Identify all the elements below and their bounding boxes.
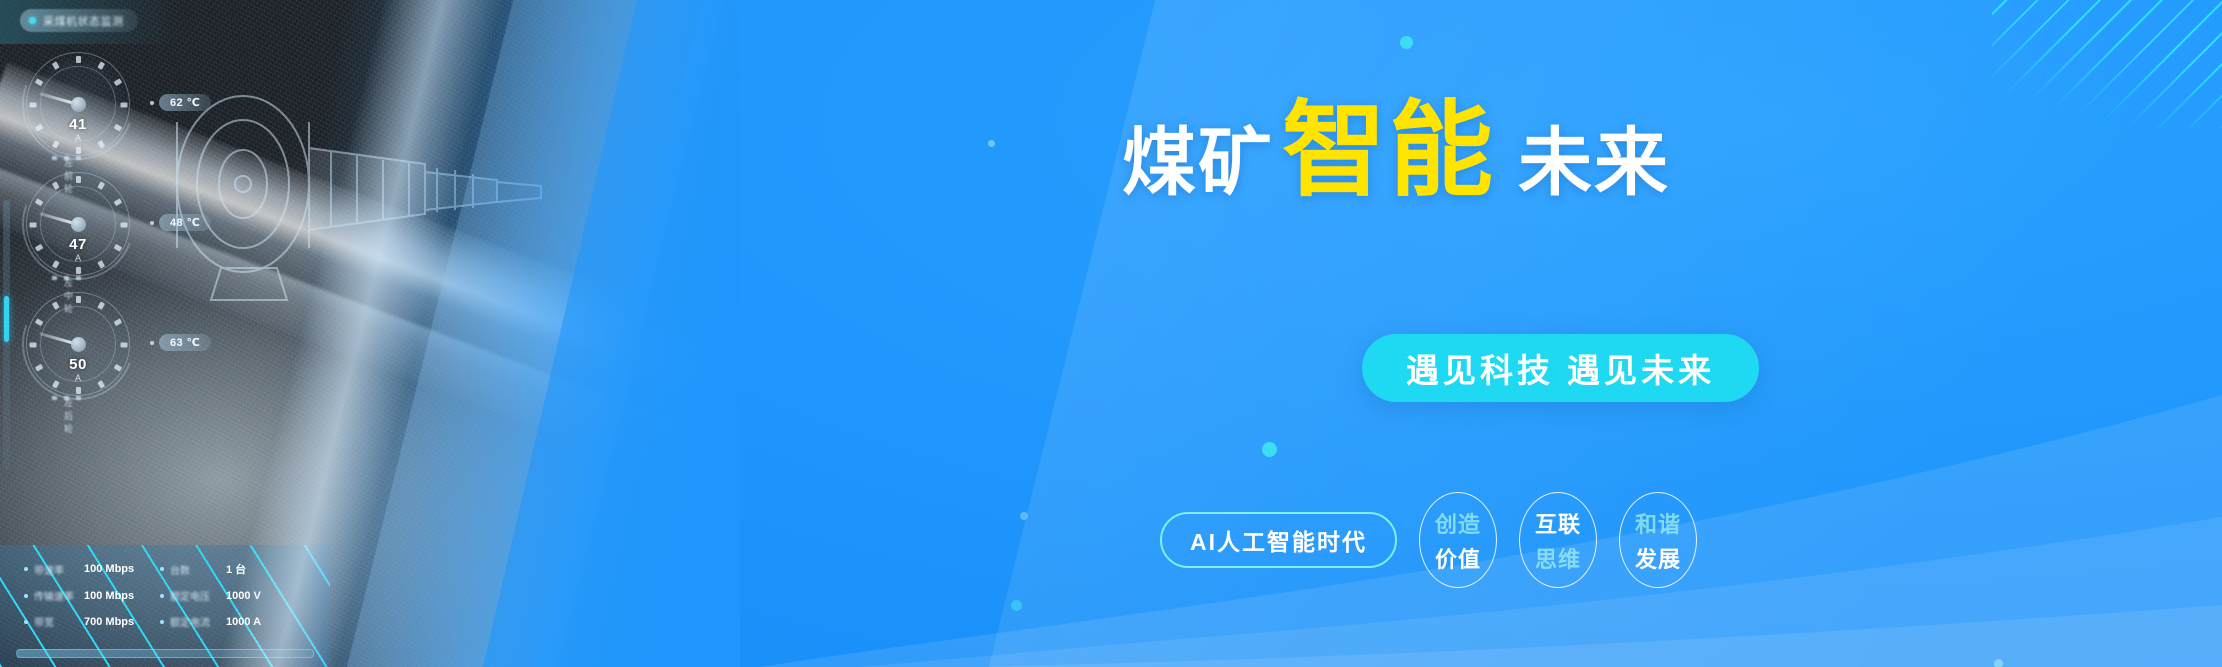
- badge-circle-line-2: 思维: [1535, 542, 1581, 574]
- banner-subtitle-pill: 遇见科技 遇见未来: [1362, 334, 1759, 402]
- title-part-2: 未来: [1518, 126, 1670, 200]
- marketing-banner: 采煤机状态监测: [0, 0, 2222, 667]
- badge-circle-line-1: 创造: [1435, 507, 1481, 539]
- badge-circle-line-1: 和谐: [1635, 507, 1681, 539]
- title-accent: 智能: [1282, 104, 1496, 200]
- badge-group: AI人工智能时代 创造 价值 互联 思维 和谐 发展: [1160, 492, 1697, 588]
- title-part-1: 煤矿: [1122, 126, 1274, 200]
- badge-pill-ai-era[interactable]: AI人工智能时代: [1160, 512, 1397, 568]
- badge-circle-connected-thinking[interactable]: 互联 思维: [1519, 492, 1597, 588]
- banner-content: 煤矿 智能 未来 遇见科技 遇见未来 AI人工智能时代 创造 价值 互联 思维 …: [0, 0, 2222, 667]
- banner-subtitle-text: 遇见科技 遇见未来: [1406, 344, 1715, 392]
- badge-circle-harmonious-development[interactable]: 和谐 发展: [1619, 492, 1697, 588]
- badge-pill-label: AI人工智能时代: [1190, 523, 1367, 557]
- badge-circle-line-2: 价值: [1435, 542, 1481, 574]
- banner-title: 煤矿 智能 未来: [1122, 104, 1670, 200]
- badge-circle-line-1: 互联: [1535, 507, 1581, 539]
- badge-circle-create-value[interactable]: 创造 价值: [1419, 492, 1497, 588]
- badge-circle-line-2: 发展: [1635, 542, 1681, 574]
